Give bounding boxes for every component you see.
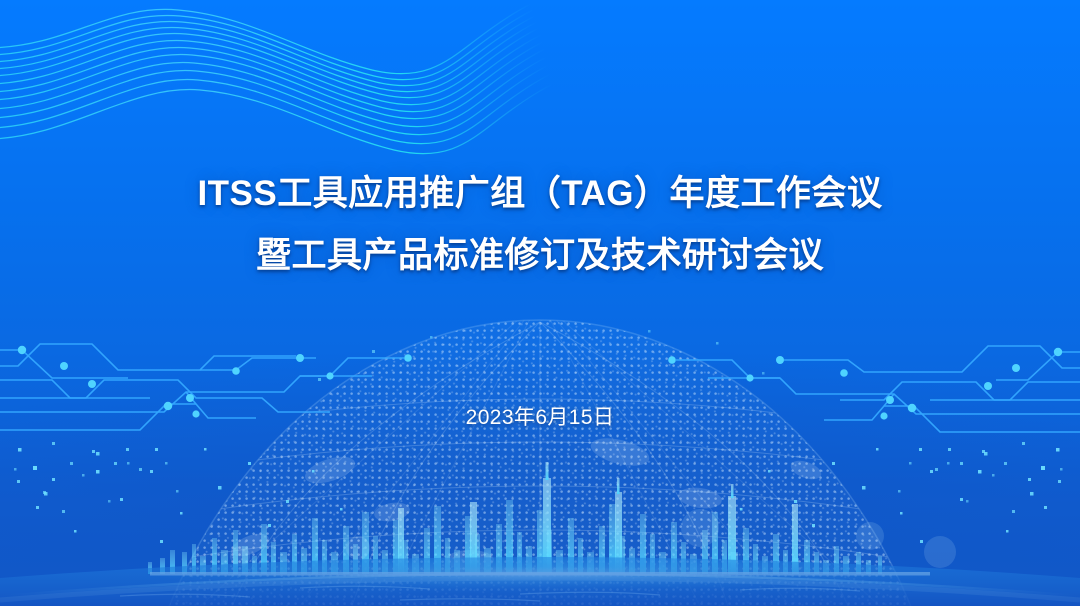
particle-decoration [0, 0, 1080, 606]
title-block: ITSS工具应用推广组（TAG）年度工作会议 暨工具产品标准修订及技术研讨会议 [0, 163, 1080, 287]
page-title-line-2: 暨工具产品标准修订及技术研讨会议 [0, 225, 1080, 287]
presentation-slide: ITSS工具应用推广组（TAG）年度工作会议 暨工具产品标准修订及技术研讨会议 … [0, 0, 1080, 606]
page-title-line-1: ITSS工具应用推广组（TAG）年度工作会议 [0, 163, 1080, 225]
event-date: 2023年6月15日 [0, 401, 1080, 431]
